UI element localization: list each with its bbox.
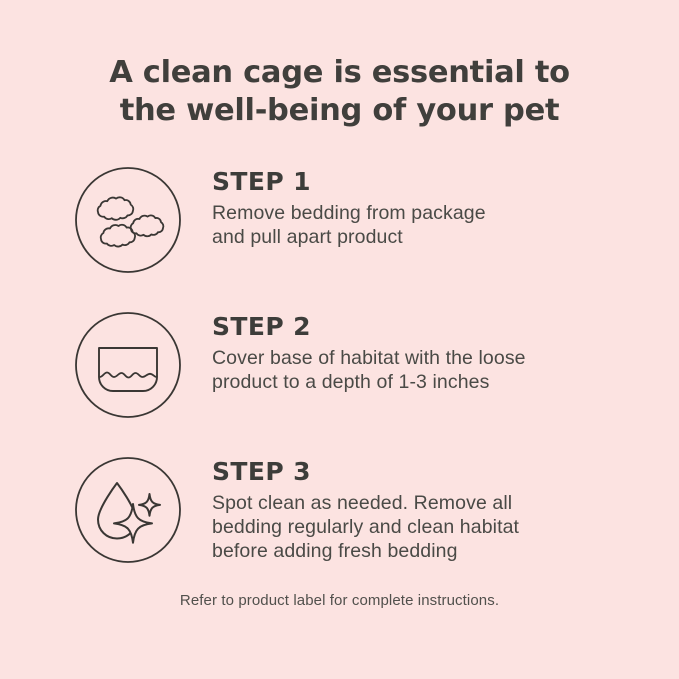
footnote-text: Refer to product label for complete inst… — [0, 592, 679, 609]
step-2-text: STEP 2 Cover base of habitat with the lo… — [212, 305, 526, 394]
page-title-line-1: A clean cage is essential to — [40, 54, 639, 92]
step-1-desc-line-1: Remove bedding from package — [212, 201, 486, 225]
step-2-desc-line-1: Cover base of habitat with the loose — [212, 346, 526, 370]
droplet-sparkle-icon — [74, 456, 182, 564]
step-1-desc-line-2: and pull apart product — [212, 225, 486, 249]
page-title-line-2: the well-being of your pet — [40, 92, 639, 130]
step-1-title: STEP 1 — [212, 168, 486, 196]
page-title: A clean cage is essential to the well-be… — [0, 54, 679, 130]
step-3-text: STEP 3 Spot clean as needed. Remove all … — [212, 450, 519, 563]
step-2-description: Cover base of habitat with the loose pro… — [212, 346, 526, 394]
step-item-1: STEP 1 Remove bedding from package and p… — [0, 160, 679, 274]
step-3-desc-line-1: Spot clean as needed. Remove all — [212, 491, 519, 515]
step-item-2: STEP 2 Cover base of habitat with the lo… — [0, 305, 679, 419]
step-2-title: STEP 2 — [212, 313, 526, 341]
step-1-description: Remove bedding from package and pull apa… — [212, 201, 486, 249]
step-3-description: Spot clean as needed. Remove all bedding… — [212, 491, 519, 563]
bedding-clouds-icon — [74, 166, 182, 274]
step-item-3: STEP 3 Spot clean as needed. Remove all … — [0, 450, 679, 564]
step-2-desc-line-2: product to a depth of 1-3 inches — [212, 370, 526, 394]
steps-list: STEP 1 Remove bedding from package and p… — [0, 160, 679, 595]
step-3-title: STEP 3 — [212, 458, 519, 486]
cage-cleaning-infographic: A clean cage is essential to the well-be… — [0, 0, 679, 679]
step-3-desc-line-3: before adding fresh bedding — [212, 539, 519, 563]
habitat-tank-icon — [74, 311, 182, 419]
step-3-desc-line-2: bedding regularly and clean habitat — [212, 515, 519, 539]
step-1-text: STEP 1 Remove bedding from package and p… — [212, 160, 486, 249]
